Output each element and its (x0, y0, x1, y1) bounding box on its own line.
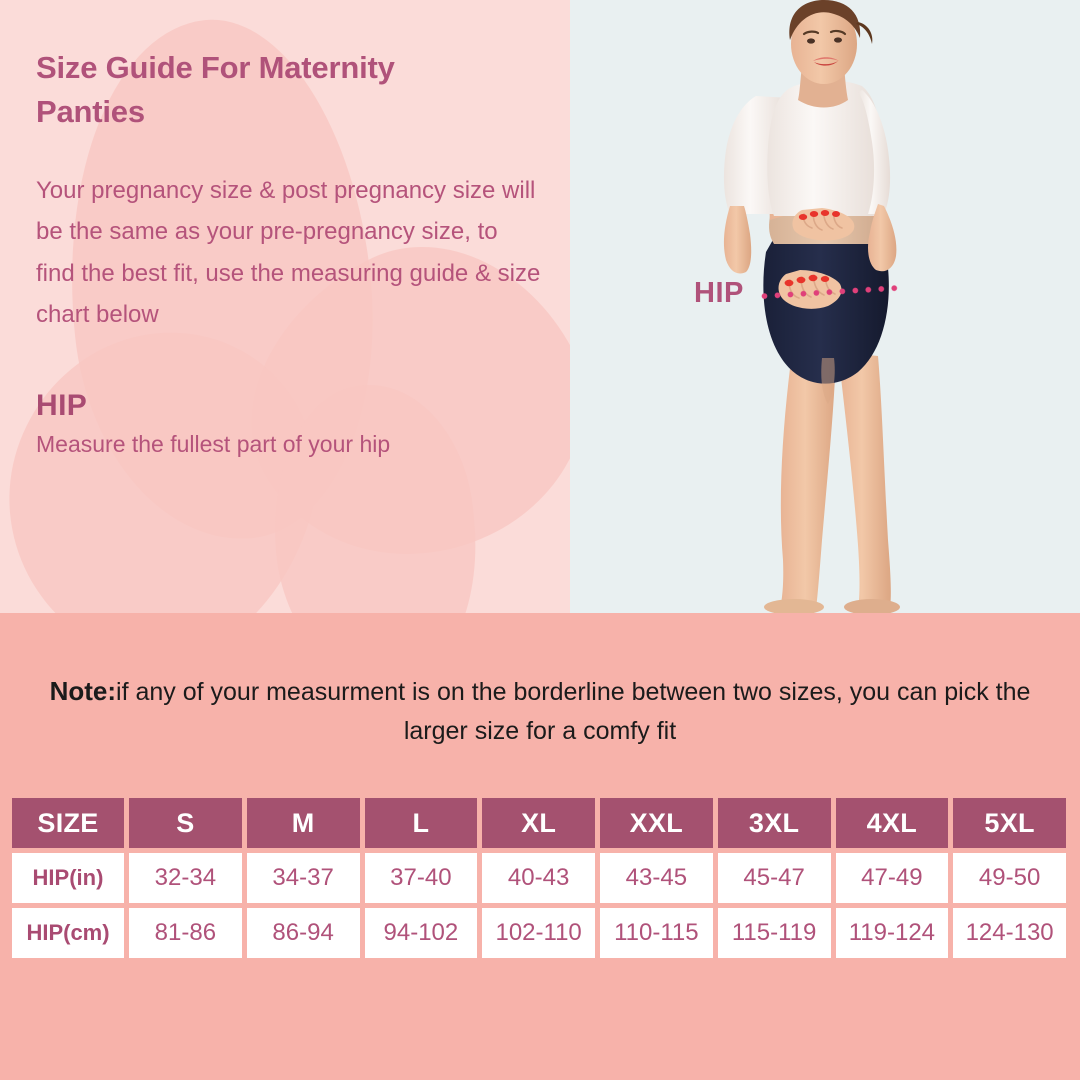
column-header-xl: XL (482, 798, 595, 848)
hip-measurement-label: HIP (694, 277, 744, 310)
table-row: HIP(cm) 81-86 86-94 94-102 102-110 110-1… (12, 908, 1066, 958)
cell-hip-cm-4xl: 119-124 (836, 908, 949, 958)
hip-section-description: Measure the fullest part of your hip (36, 431, 546, 458)
info-panel: Size Guide For Maternity Panties Your pr… (0, 0, 570, 613)
cell-hip-cm-xl: 102-110 (482, 908, 595, 958)
note-and-chart-section: Note:if any of your measurment is on the… (0, 613, 1080, 1080)
cell-hip-cm-xxl: 110-115 (600, 908, 713, 958)
column-header-m: M (247, 798, 360, 848)
cell-hip-cm-l: 94-102 (365, 908, 478, 958)
note-label: Note: (50, 676, 116, 706)
cell-hip-cm-s: 81-86 (129, 908, 242, 958)
size-guide-page: Size Guide For Maternity Panties Your pr… (0, 0, 1080, 1080)
cell-hip-cm-m: 86-94 (247, 908, 360, 958)
pregnant-model-illustration (570, 0, 1080, 613)
cell-hip-in-l: 37-40 (365, 853, 478, 903)
column-header-4xl: 4XL (836, 798, 949, 848)
column-header-s: S (129, 798, 242, 848)
column-header-size: SIZE (12, 798, 124, 848)
table-header-row: SIZE S M L XL XXL 3XL 4XL 5XL (12, 798, 1066, 848)
cell-hip-in-xxl: 43-45 (600, 853, 713, 903)
column-header-l: L (365, 798, 478, 848)
column-header-3xl: 3XL (718, 798, 831, 848)
top-section: Size Guide For Maternity Panties Your pr… (0, 0, 1080, 613)
page-title: Size Guide For Maternity Panties (36, 46, 456, 134)
cell-hip-in-xl: 40-43 (482, 853, 595, 903)
hip-section-heading: HIP (36, 389, 546, 423)
note-body: if any of your measurment is on the bord… (116, 678, 1030, 745)
column-header-5xl: 5XL (953, 798, 1066, 848)
row-label-hip-cm: HIP(cm) (12, 908, 124, 958)
size-chart-table: SIZE S M L XL XXL 3XL 4XL 5XL HIP(in) 32… (7, 793, 1071, 963)
cell-hip-in-3xl: 45-47 (718, 853, 831, 903)
cell-hip-cm-5xl: 124-130 (953, 908, 1066, 958)
table-row: HIP(in) 32-34 34-37 37-40 40-43 43-45 45… (12, 853, 1066, 903)
cell-hip-cm-3xl: 115-119 (718, 908, 831, 958)
intro-paragraph: Your pregnancy size & post pregnancy siz… (36, 170, 541, 335)
row-label-hip-in: HIP(in) (12, 853, 124, 903)
cell-hip-in-4xl: 47-49 (836, 853, 949, 903)
info-content: Size Guide For Maternity Panties Your pr… (36, 46, 546, 458)
note-text: Note:if any of your measurment is on the… (40, 671, 1040, 751)
cell-hip-in-s: 32-34 (129, 853, 242, 903)
column-header-xxl: XXL (600, 798, 713, 848)
cell-hip-in-m: 34-37 (247, 853, 360, 903)
cell-hip-in-5xl: 49-50 (953, 853, 1066, 903)
model-photo-panel: HIP (570, 0, 1080, 613)
